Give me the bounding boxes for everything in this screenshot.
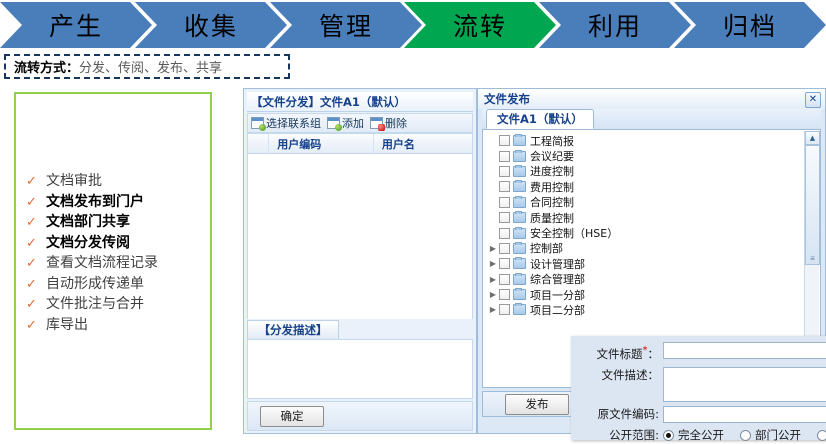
folder-icon: [513, 135, 526, 146]
toolbar-add[interactable]: 添加: [327, 115, 364, 131]
delete-icon: [370, 117, 383, 129]
tree-item[interactable]: ▶项目二分部: [483, 302, 805, 317]
feature-item: ✓查看文档流程记录: [26, 252, 208, 273]
folder-icon: [513, 197, 526, 208]
process-step-3[interactable]: 管理: [270, 2, 422, 48]
flow-mode-value: 分发、传阅、发布、共享: [79, 57, 222, 76]
feature-item: ✓自动形成传递单: [26, 273, 208, 294]
feature-item-label: 查看文档流程记录: [46, 252, 158, 272]
tree-item-label: 工程简报: [530, 133, 574, 149]
toolbar-item-label: 添加: [342, 115, 364, 131]
publish-button[interactable]: 发布: [505, 394, 569, 415]
distribution-desc-textarea[interactable]: [247, 339, 473, 399]
expand-arrow-icon[interactable]: ▶: [487, 290, 499, 299]
close-icon[interactable]: ✕: [805, 92, 821, 108]
check-icon: ✓: [26, 195, 46, 210]
tree-checkbox[interactable]: [499, 274, 510, 285]
tree-checkbox[interactable]: [499, 135, 510, 146]
toolbar-select-group[interactable]: 选择联系组: [251, 115, 321, 131]
tree-item-label: 会议纪要: [530, 148, 574, 164]
tree-checkbox[interactable]: [499, 228, 510, 239]
tree-item-label: 费用控制: [530, 179, 574, 195]
flow-mode-label: 流转方式：: [6, 57, 79, 76]
expand-arrow-icon[interactable]: ▶: [487, 275, 499, 284]
remove-badge-icon: [378, 124, 385, 131]
scope-radio-option[interactable]: 部门公开: [740, 427, 801, 443]
process-banner: 产生收集管理流转利用归档: [0, 2, 826, 48]
folder-icon: [513, 228, 526, 239]
check-icon: ✓: [26, 215, 46, 230]
tree-item[interactable]: ▶项目一分部: [483, 287, 805, 302]
grid-header-row: 用户编码 用户名: [248, 134, 472, 154]
scope-radio-group: 完全公开部门公开私密: [663, 427, 826, 444]
folder-icon: [513, 258, 526, 269]
scroll-up-icon[interactable]: ▲: [805, 131, 820, 145]
grid-body-empty[interactable]: [248, 154, 472, 319]
folder-icon: [513, 166, 526, 177]
publish-title: 文件发布: [478, 91, 530, 107]
folder-icon: [513, 181, 526, 192]
feature-item: ✓库导出: [26, 314, 208, 335]
publish-form-dialog: 文件标题*： 文件描述： ▲ ▼ 原文件编码: 公开范围: 完全公开部门公开私密: [571, 336, 826, 440]
feature-item: ✓文档审批: [26, 170, 208, 191]
process-step-1[interactable]: 产生: [0, 2, 152, 48]
tree-item[interactable]: 进度控制: [483, 164, 805, 179]
process-step-5[interactable]: 利用: [539, 2, 691, 48]
flow-mode-callout: 流转方式： 分发、传阅、发布、共享: [4, 54, 290, 79]
feature-list: ✓文档审批✓文档发布到门户✓文档部门共享✓文档分发传阅✓查看文档流程记录✓自动形…: [26, 170, 208, 334]
folder-icon: [513, 289, 526, 300]
process-step-2[interactable]: 收集: [135, 2, 287, 48]
tree-item-label: 质量控制: [530, 210, 574, 226]
tree-checkbox[interactable]: [499, 197, 510, 208]
file-title-input[interactable]: [663, 342, 826, 359]
tree-checkbox[interactable]: [499, 181, 510, 192]
check-icon: ✓: [26, 277, 46, 292]
scope-radio-label: 部门公开: [755, 427, 801, 443]
grid-header-user-code[interactable]: 用户编码: [269, 134, 374, 153]
scrollbar-thumb[interactable]: [805, 145, 820, 265]
tree-checkbox[interactable]: [499, 289, 510, 300]
tree-item[interactable]: 合同控制: [483, 195, 805, 210]
folder-icon: [513, 304, 526, 315]
feature-list-box: ✓文档审批✓文档发布到门户✓文档部门共享✓文档分发传阅✓查看文档流程记录✓自动形…: [14, 92, 212, 430]
file-title-colon: ：: [648, 347, 660, 361]
distribution-footer: 确定: [247, 401, 473, 431]
tree-checkbox[interactable]: [499, 151, 510, 162]
tree-item[interactable]: ▶综合管理部: [483, 272, 805, 287]
expand-arrow-icon[interactable]: ▶: [487, 259, 499, 268]
toolbar-delete[interactable]: 删除: [370, 115, 407, 131]
orig-file-code-input[interactable]: [663, 406, 826, 423]
folder-icon: [513, 274, 526, 285]
confirm-button[interactable]: 确定: [260, 406, 324, 427]
form-row-description: 文件描述： ▲ ▼: [571, 367, 826, 402]
tab-file-a1[interactable]: 文件A1（默认）: [486, 109, 594, 129]
distribution-desc-tab[interactable]: 【分发描述】: [247, 320, 339, 339]
process-step-label: 收集: [184, 7, 238, 43]
tree-item[interactable]: 费用控制: [483, 179, 805, 194]
publish-titlebar: 文件发布: [478, 89, 825, 109]
plus-badge-icon: [259, 124, 266, 131]
tree-rows: 工程简报会议纪要进度控制费用控制合同控制质量控制安全控制（HSE）▶控制部▶设计…: [483, 130, 805, 318]
add-icon: [327, 117, 340, 129]
grid-corner-cell: [248, 134, 269, 153]
form-row-title: 文件标题*：: [571, 342, 826, 363]
tree-item-label: 安全控制（HSE）: [530, 225, 618, 241]
toolbar-item-label: 选择联系组: [266, 115, 321, 131]
feature-item-label: 自动形成传递单: [46, 273, 144, 293]
folder-icon: [513, 151, 526, 162]
tree-item-label: 合同控制: [530, 194, 574, 210]
tree-checkbox[interactable]: [499, 304, 510, 315]
tree-checkbox[interactable]: [499, 258, 510, 269]
folder-icon: [513, 212, 526, 223]
tree-checkbox[interactable]: [499, 212, 510, 223]
form-row-origcode: 原文件编码:: [571, 406, 826, 423]
distribution-titlebar: 【文件分发】文件A1（默认）: [247, 92, 473, 112]
check-icon: ✓: [26, 236, 46, 251]
feature-item-label: 文件批注与合并: [46, 293, 144, 313]
feature-item: ✓文档发布到门户: [26, 191, 208, 212]
tree-item-label: 设计管理部: [530, 256, 585, 272]
feature-item: ✓文件批注与合并: [26, 293, 208, 314]
file-title-label: 文件标题*：: [571, 342, 663, 363]
feature-item-label: 文档审批: [46, 170, 102, 190]
process-step-label: 流转: [453, 7, 507, 43]
process-step-label: 归档: [723, 7, 777, 43]
orig-file-code-label: 原文件编码:: [571, 406, 663, 423]
feature-item-label: 库导出: [46, 314, 88, 334]
tree-checkbox[interactable]: [499, 243, 510, 254]
tree-item[interactable]: 工程简报: [483, 133, 805, 148]
feature-item: ✓文档部门共享: [26, 211, 208, 232]
check-icon: ✓: [26, 297, 46, 312]
file-distribution-window: 【文件分发】文件A1（默认） 选择联系组添加删除 用户编码 用户名 【分发描述】…: [243, 88, 477, 434]
radio-icon[interactable]: [663, 430, 674, 441]
scope-label: 公开范围:: [571, 427, 663, 444]
feature-item-label: 文档部门共享: [46, 211, 130, 231]
select-group-icon: [251, 117, 264, 129]
tree-checkbox[interactable]: [499, 166, 510, 177]
check-icon: ✓: [26, 256, 46, 271]
grid-header-user-name[interactable]: 用户名: [374, 134, 472, 153]
scope-radio-option[interactable]: 完全公开: [663, 427, 724, 443]
tree-item-label: 控制部: [530, 240, 563, 256]
process-step-label: 管理: [319, 7, 373, 43]
file-desc-label: 文件描述：: [571, 367, 663, 384]
tree-item[interactable]: ▶控制部: [483, 241, 805, 256]
toolbar-item-label: 删除: [385, 115, 407, 131]
distribution-toolbar: 选择联系组添加删除: [247, 113, 473, 133]
tree-item-label: 综合管理部: [530, 271, 585, 287]
distribution-user-grid: 用户编码 用户名: [247, 133, 473, 319]
file-title-label-text: 文件标题: [597, 347, 643, 361]
tree-item[interactable]: 安全控制（HSE）: [483, 225, 805, 240]
folder-icon: [513, 243, 526, 254]
publish-tabstrip: 文件A1（默认）: [482, 109, 821, 130]
expand-arrow-icon[interactable]: ▶: [487, 305, 499, 314]
tree-item-label: 项目一分部: [530, 287, 585, 303]
feature-item-label: 文档分发传阅: [46, 232, 130, 252]
process-step-6[interactable]: 归档: [674, 2, 826, 48]
feature-item-label: 文档发布到门户: [46, 191, 144, 211]
scrollbar-grip-icon: ≡: [805, 253, 820, 263]
radio-icon[interactable]: [740, 430, 751, 441]
process-step-4[interactable]: 流转: [404, 2, 556, 48]
tree-item-label: 进度控制: [530, 163, 574, 179]
tree-item-label: 项目二分部: [530, 302, 585, 318]
process-step-label: 利用: [588, 7, 642, 43]
application-screenshot: 【文件分发】文件A1（默认） 选择联系组添加删除 用户编码 用户名 【分发描述】…: [243, 88, 826, 436]
tree-item[interactable]: ▶设计管理部: [483, 256, 805, 271]
process-step-label: 产生: [49, 7, 103, 43]
plus-badge-icon: [335, 124, 342, 131]
scope-radio-label: 完全公开: [678, 427, 724, 443]
tree-item[interactable]: 会议纪要: [483, 148, 805, 163]
feature-item: ✓文档分发传阅: [26, 232, 208, 253]
radio-icon[interactable]: [817, 430, 826, 441]
expand-arrow-icon[interactable]: ▶: [487, 244, 499, 253]
tree-item[interactable]: 质量控制: [483, 210, 805, 225]
check-icon: ✓: [26, 174, 46, 189]
form-row-scope: 公开范围: 完全公开部门公开私密: [571, 427, 826, 444]
scope-radio-option[interactable]: 私密: [817, 427, 826, 443]
check-icon: ✓: [26, 318, 46, 333]
distribution-title: 【文件分发】文件A1（默认）: [247, 94, 406, 110]
file-desc-textarea[interactable]: ▲ ▼: [663, 367, 826, 402]
